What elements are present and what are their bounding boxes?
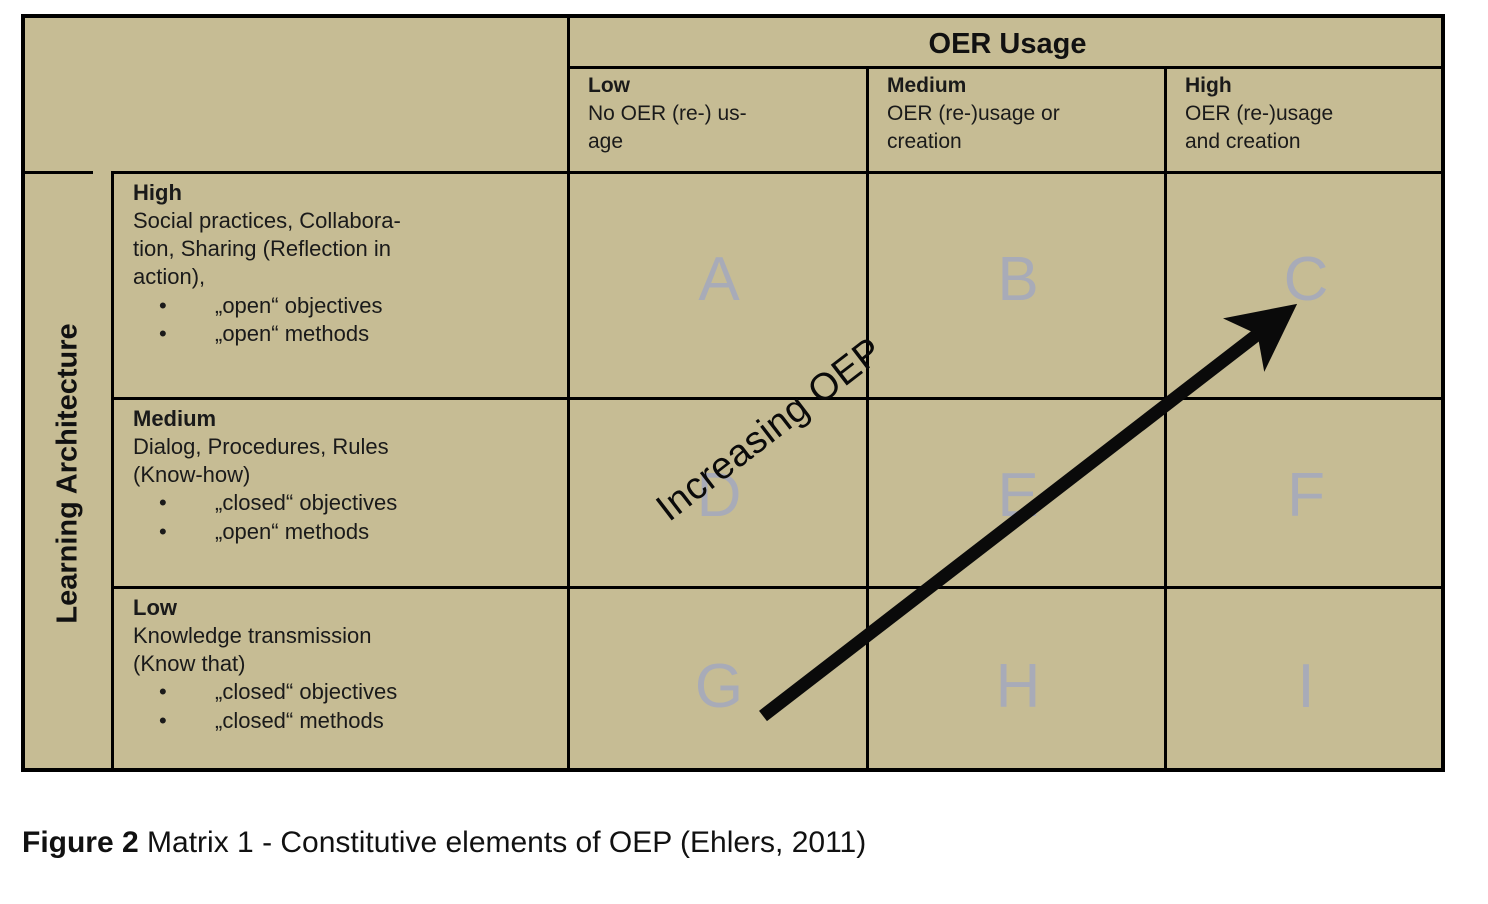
bullet-icon: • [159,489,167,517]
row-header-low-level: Low [133,594,564,622]
row-header-low-bullet-list: •„closed“ objectives•„closed“ methods [133,678,564,734]
grid-rule-below-column-headers-right [111,171,1445,174]
row-header-medium-bullet-list: •„closed“ objectives•„open“ methods [133,489,564,545]
row-header-bullet-item: •„open“ methods [133,518,564,546]
grid-rule-below-column-headers-left [25,171,93,174]
row-header-high-bullet-list: •„open“ objectives•„open“ methods [133,292,564,348]
figure-caption: Figure 2 Matrix 1 - Constitutive element… [22,826,866,860]
column-header-high-level: High [1185,72,1445,100]
row-header-medium-level: Medium [133,405,564,433]
row-header-bullet-item: •„closed“ objectives [133,489,564,517]
matrix-cell-e: E [869,400,1167,587]
row-header-medium: Medium Dialog, Procedures, Rules(Know-ho… [114,400,570,587]
matrix-cell-g: G [570,589,868,772]
row-header-bullet-label: „closed“ objectives [215,490,397,515]
row-header-high-level: High [133,179,564,207]
matrix-cell-h-letter: H [996,656,1041,718]
row-axis-title-container: Learning Architecture [25,174,111,772]
matrix-cell-f: F [1167,400,1445,587]
grid-rule-header-band [570,66,1445,69]
grid-rule-row-medium-low [111,586,1445,589]
figure-container: OER Usage Low No OER (re-) us-age Medium… [0,0,1488,904]
column-header-high: High OER (re-)usageand creation [1167,68,1445,172]
matrix-cell-b-letter: B [997,249,1038,311]
matrix-cell-e-letter: E [997,465,1038,527]
row-header-bullet-label: „open“ objectives [215,293,383,318]
row-header-bullet-item: •„closed“ methods [133,707,564,735]
bullet-icon: • [159,707,167,735]
column-header-low: Low No OER (re-) us-age [570,68,868,172]
bullet-icon: • [159,678,167,706]
matrix-cell-b: B [869,174,1167,398]
matrix-cell-c: C [1167,174,1445,398]
row-header-medium-description: Dialog, Procedures, Rules(Know-how) [133,433,564,489]
bullet-icon: • [159,320,167,348]
row-header-bullet-label: „open“ methods [215,519,369,544]
column-header-medium-description: OER (re-)usage orcreation [887,100,1167,156]
row-header-low: Low Knowledge transmission(Know that) •„… [114,589,570,772]
row-header-bullet-label: „closed“ objectives [215,679,397,704]
bullet-icon: • [159,518,167,546]
matrix-cell-c-letter: C [1284,249,1329,311]
grid-rule-column-low-medium [866,66,869,772]
row-header-bullet-item: •„open“ methods [133,320,564,348]
matrix-cell-h: H [869,589,1167,772]
column-header-medium-level: Medium [887,72,1167,100]
column-header-low-description: No OER (re-) us-age [588,100,868,156]
column-header-low-level: Low [588,72,868,100]
row-header-high: High Social practices, Collabora-tion, S… [114,174,570,398]
row-header-bullet-label: „open“ methods [215,321,369,346]
figure-caption-text: Matrix 1 - Constitutive elements of OEP … [147,826,866,859]
matrix-cell-i-letter: I [1297,656,1314,718]
matrix-cell-i: I [1167,589,1445,772]
bullet-icon: • [159,292,167,320]
column-axis-title: OER Usage [570,22,1445,66]
column-header-high-description: OER (re-)usageand creation [1185,100,1445,156]
matrix-cell-a-letter: A [698,249,739,311]
matrix-cell-f-letter: F [1287,465,1325,527]
row-header-bullet-item: •„closed“ objectives [133,678,564,706]
row-header-bullet-label: „closed“ methods [215,708,384,733]
figure-caption-label: Figure 2 [22,826,139,859]
column-header-medium: Medium OER (re-)usage orcreation [869,68,1167,172]
row-header-low-description: Knowledge transmission(Know that) [133,622,564,678]
oep-matrix-table: OER Usage Low No OER (re-) us-age Medium… [21,14,1445,772]
grid-rule-axis-column [111,171,114,772]
grid-rule-column-medium-high [1164,66,1167,772]
grid-rule-row-label-column [567,18,570,772]
matrix-cell-g-letter: G [695,656,743,718]
matrix-grid: OER Usage Low No OER (re-) us-age Medium… [25,18,1441,768]
row-header-bullet-item: •„open“ objectives [133,292,564,320]
row-axis-title: Learning Architecture [52,323,85,623]
row-header-high-description: Social practices, Collabora-tion, Sharin… [133,207,564,291]
